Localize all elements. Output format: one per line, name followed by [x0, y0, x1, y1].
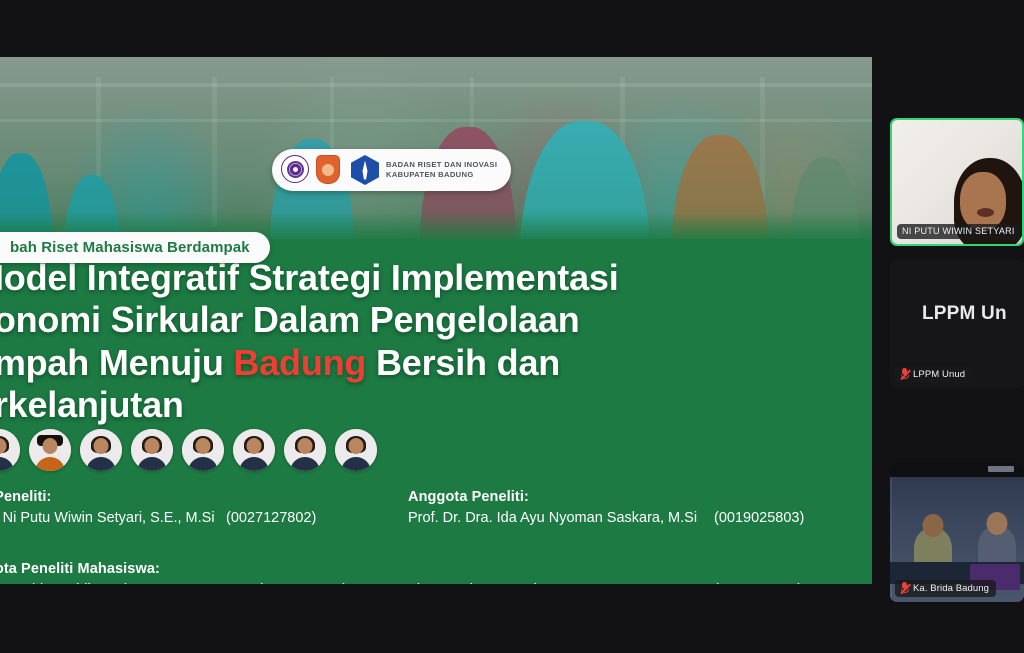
avatar — [335, 429, 377, 471]
student-name: usti Ayu Vidya Widiantari — [0, 580, 258, 584]
participant-name-tag: LPPM Unud — [895, 366, 972, 383]
participant-name-tag: NI PUTU WIWIN SETYARI — [897, 224, 1021, 239]
badung-shield-logo-icon — [316, 155, 344, 185]
avatar — [233, 429, 275, 471]
student-column-right: Ida Ayu Sintya Dewi (2307511162) Ni Putu… — [408, 561, 872, 584]
student-column-left: nggota Peneliti Mahasiswa: usti Ayu Vidy… — [0, 561, 388, 584]
slide-title-line4: erkelanjutan — [0, 384, 774, 426]
slide-title: Model Integratif Strategi Implementasi k… — [0, 257, 774, 427]
researcher-avatar-row — [0, 429, 377, 471]
member-researcher-heading: Anggota Peneliti: — [408, 489, 872, 505]
lead-researcher-column: tua Peneliti: f. Dr. Ni Putu Wiwin Setya… — [0, 489, 388, 530]
participant-name-tag: Ka. Brida Badung — [895, 580, 996, 597]
participant-name: NI PUTU WIWIN SETYARI — [902, 226, 1015, 236]
student-id: (2307511162) — [714, 580, 802, 584]
org-badge: BADAN RISET DAN INOVASI KABUPATEN BADUNG — [272, 149, 511, 191]
lead-researcher-name: f. Dr. Ni Putu Wiwin Setyari, S.E., M.Si — [0, 508, 226, 530]
slide-title-line3: ampah Menuju Badung Bersih dan — [0, 342, 774, 384]
participant-name: LPPM Unud — [913, 369, 965, 380]
avatar — [131, 429, 173, 471]
org-badge-line2: KABUPATEN BADUNG — [386, 170, 497, 180]
member-researcher-name: Prof. Dr. Dra. Ida Ayu Nyoman Saskara, M… — [408, 508, 714, 530]
program-ribbon-label: bah Riset Mahasiswa Berdampak — [10, 239, 250, 256]
avatar — [284, 429, 326, 471]
student-name: Ida Ayu Sintya Dewi — [408, 580, 714, 584]
member-researcher-row: Prof. Dr. Dra. Ida Ayu Nyoman Saskara, M… — [408, 508, 872, 530]
participant-tile-room[interactable]: Ka. Brida Badung — [890, 462, 1024, 602]
mic-muted-icon — [900, 368, 909, 380]
participant-filmstrip[interactable]: NI PUTU WIWIN SETYARI LPPM Un LPPM Unud — [884, 0, 1024, 653]
participant-tile-active-speaker[interactable]: NI PUTU WIWIN SETYARI — [890, 118, 1024, 246]
shared-screen-stage[interactable]: BADAN RISET DAN INOVASI KABUPATEN BADUNG… — [0, 57, 872, 584]
badung-regency-logo-icon — [351, 155, 379, 185]
mic-muted-icon — [900, 582, 909, 594]
avatar — [80, 429, 122, 471]
meeting-window: BADAN RISET DAN INOVASI KABUPATEN BADUNG… — [0, 0, 1024, 653]
slide-title-line3-b: Bersih dan — [366, 342, 560, 383]
program-ribbon: bah Riset Mahasiswa Berdampak — [0, 232, 270, 263]
student-researchers-heading: nggota Peneliti Mahasiswa: — [0, 561, 388, 577]
student-row: usti Ayu Vidya Widiantari (2307511003) — [0, 580, 388, 584]
avatar — [29, 429, 71, 471]
avatar — [182, 429, 224, 471]
unud-logo-icon — [281, 155, 309, 185]
org-badge-line1: BADAN RISET DAN INOVASI — [386, 160, 497, 170]
member-researcher-column: Anggota Peneliti: Prof. Dr. Dra. Ida Ayu… — [408, 489, 872, 530]
lead-researcher-heading: tua Peneliti: — [0, 489, 388, 505]
participant-name: Ka. Brida Badung — [913, 583, 989, 594]
participant-tile-camera-off[interactable]: LPPM Un LPPM Unud — [890, 260, 1024, 388]
slide-title-highlight: Badung — [233, 342, 366, 383]
member-researcher-id: (0019025803) — [714, 508, 804, 530]
org-badge-text: BADAN RISET DAN INOVASI KABUPATEN BADUNG — [386, 160, 497, 180]
slide-title-line2: konomi Sirkular Dalam Pengelolaan — [0, 299, 774, 341]
lead-researcher-row: f. Dr. Ni Putu Wiwin Setyari, S.E., M.Si… — [0, 508, 388, 530]
slide-title-line3-a: ampah Menuju — [0, 342, 233, 383]
lead-researcher-id: (0027127802) — [226, 508, 316, 530]
slide-title-line1: Model Integratif Strategi Implementasi — [0, 257, 774, 299]
student-row: Ida Ayu Sintya Dewi (2307511162) — [408, 580, 872, 584]
participant-display-name: LPPM Un — [922, 303, 1007, 325]
student-id: (2307511003) — [258, 580, 347, 584]
avatar — [0, 429, 20, 471]
